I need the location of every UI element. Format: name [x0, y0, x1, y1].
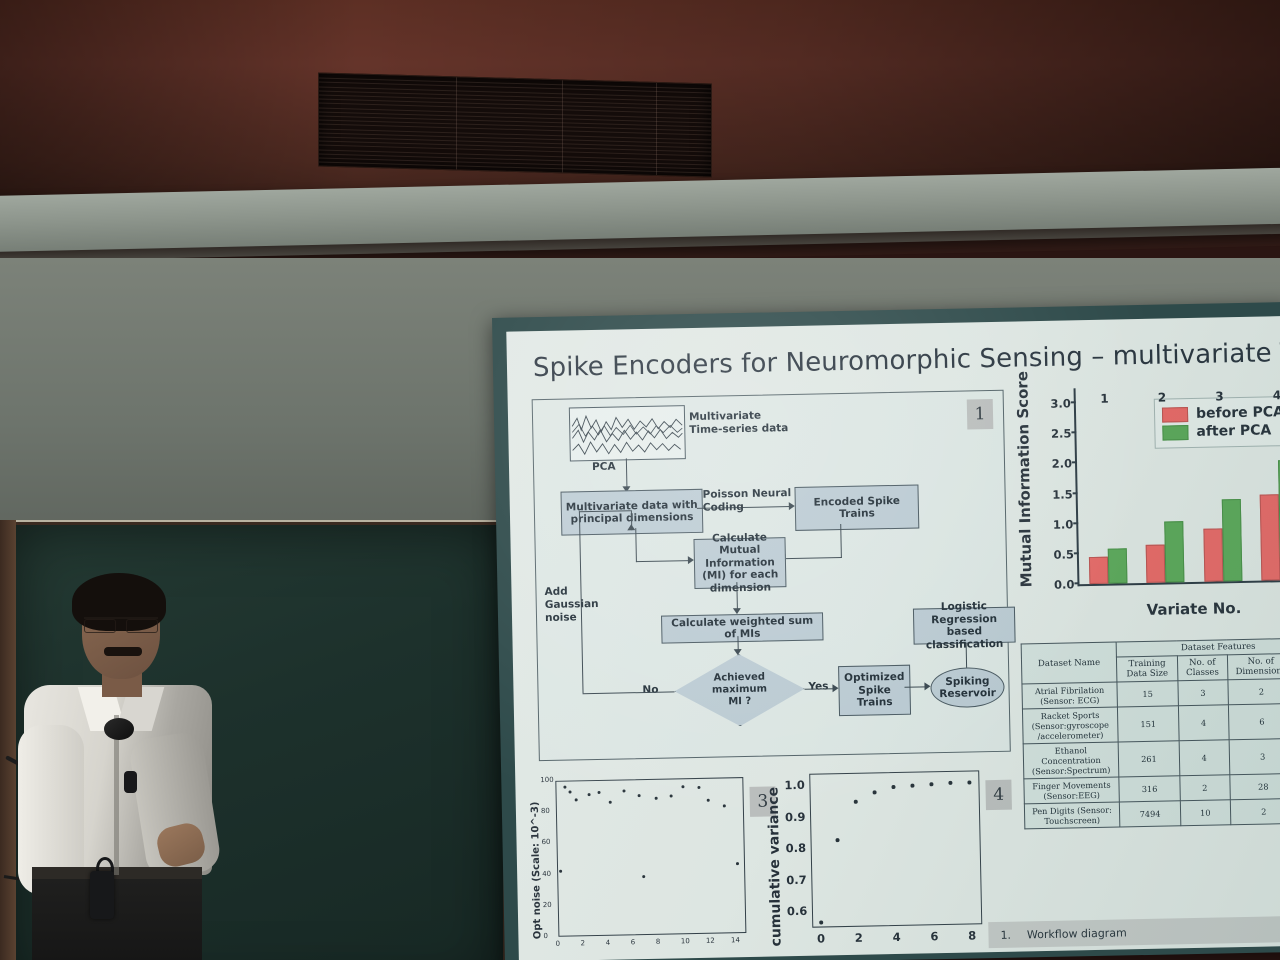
scatter-xtick-10: 10 [681, 937, 690, 945]
node-decision-max-mi: Achieved maximum MI ? [674, 653, 805, 728]
node-spiking-reservoir: Spiking Reservoir [930, 667, 1005, 708]
microphone-transmitter-pack [90, 871, 114, 919]
scatter-point [836, 838, 840, 842]
scatter-point [655, 796, 658, 799]
gaussian-line1: Add [544, 586, 567, 599]
bar-after-pca-3 [1222, 499, 1243, 581]
scatter-point [622, 789, 625, 792]
presentation-slide: Spike Encoders for Neuromorphic Sensing … [506, 316, 1280, 960]
cell-training: 15 [1117, 681, 1178, 707]
dataset-features-table: Dataset Name Dataset Features Training D… [1021, 637, 1280, 829]
scatter-xtick-8: 8 [968, 928, 976, 942]
eyeglasses-icon [84, 617, 158, 631]
bar-ytick-0.0: 0.0 [1054, 577, 1075, 591]
slide-title: Spike Encoders for Neuromorphic Sensing … [533, 338, 1280, 384]
bar-xtick-4: 4 [1273, 388, 1280, 402]
projection-screen: Spike Encoders for Neuromorphic Sensing … [492, 302, 1280, 960]
workflow-diagram-panel: 1 Multivariate Time-series data PCA [532, 390, 1011, 761]
no-label: No [642, 684, 658, 697]
cell-dataset-name: Finger Movements (Sensor:EEG) [1024, 777, 1119, 804]
scatter-point [967, 780, 971, 784]
node-weighted-sum: Calculate weighted sum of MIs [661, 612, 824, 643]
scatter-point [637, 794, 640, 797]
scatter-point [929, 782, 933, 786]
presenter-trousers [32, 871, 202, 960]
decision-line2: maximum [712, 684, 767, 697]
bar-chart-xlabel: Variate No. [1078, 598, 1280, 621]
scatter-ytick-0.7: 0.7 [786, 873, 807, 887]
cell-training: 7494 [1119, 801, 1180, 827]
poisson-label-line1: Poisson Neural [702, 487, 791, 501]
cell-classes: 2 [1180, 775, 1230, 801]
bar-xtick-1: 1 [1100, 392, 1109, 406]
scatter-point [597, 791, 600, 794]
caption-number: 1. [1000, 928, 1011, 941]
bar-group [1085, 387, 1127, 584]
encoded-to-mi-h [786, 557, 842, 559]
scatter-point [736, 862, 739, 865]
scatter-ytick-0: 0 [543, 932, 548, 940]
presenter [10, 575, 240, 960]
bar-ytickmark-0.5 [1074, 552, 1079, 554]
scatter-point [873, 790, 877, 794]
gaussian-line2: Gaussian [545, 598, 599, 612]
scatter-point [563, 786, 566, 789]
pca-arrow-line [626, 458, 628, 488]
table-row: Ethanol Concentration (Sensor:Spectrum)2… [1023, 738, 1280, 779]
node-optimized-spike-trains: Optimized Spike Trains [838, 665, 911, 716]
presenter-moustache [104, 647, 142, 656]
scatter-xtick-4: 4 [606, 939, 611, 947]
bar-before-pca-3 [1203, 529, 1223, 582]
decision-line3: MI ? [728, 696, 751, 708]
scatter-xtick-14: 14 [731, 936, 740, 944]
th-training-data-size: Training Data Size [1116, 656, 1177, 682]
scatter-xtick-4: 4 [892, 930, 900, 944]
scatter-ytick-0.6: 0.6 [787, 904, 808, 918]
ventilation-grille-icon [318, 72, 712, 177]
cell-dataset-name: Racket Sports (Sensor:gyroscope /acceler… [1022, 707, 1118, 744]
bar-after-pca-2 [1164, 521, 1184, 582]
node-encoded-spike-trains: Encoded Spike Trains [794, 484, 919, 530]
cell-dataset-name: Pen Digits (Sensor: Touchscreen) [1024, 802, 1119, 829]
timeseries-label-line2: Time-series data [689, 422, 788, 436]
cumulative-variance-plot-area: 1.00.90.80.70.602468 [809, 770, 982, 927]
bar-before-pca-4 [1260, 494, 1280, 581]
table-row: Pen Digits (Sensor: Touchscreen)7494102 [1024, 798, 1280, 829]
scatter-point [910, 783, 914, 787]
scatter-ytick-40: 40 [542, 870, 551, 878]
scatter-point [643, 875, 646, 878]
no-branch-h [583, 691, 675, 694]
legend-item: after PCA [1162, 422, 1280, 440]
scatter-point [575, 798, 578, 801]
cell-classes: 3 [1178, 680, 1228, 706]
opt-noise-plot-area: 10080604020002468101214 [555, 777, 746, 937]
timeseries-waveform-icon [570, 406, 685, 460]
pca-label: PCA [592, 461, 616, 474]
scatter-xtick-6: 6 [930, 929, 938, 943]
cell-dimensions: 2 [1227, 678, 1280, 704]
scatter-ytick-1.0: 1.0 [784, 778, 805, 792]
scatter-point [723, 804, 726, 807]
scatter-xtick-6: 6 [631, 938, 636, 946]
bar-ytickmark-2.0 [1072, 462, 1077, 464]
cell-dimensions: 6 [1228, 703, 1280, 739]
scatter-point [609, 801, 612, 804]
lecture-hall-scene: Spike Encoders for Neuromorphic Sensing … [0, 0, 1280, 960]
multivariate-timeseries-thumbnail [569, 405, 686, 461]
legend-item: before PCA [1162, 404, 1280, 422]
cell-dataset-name: Ethanol Concentration (Sensor:Spectrum) [1023, 742, 1119, 779]
scatter-point [568, 790, 571, 793]
scatter-point [706, 799, 709, 802]
bar-ytick-0.5: 0.5 [1053, 547, 1074, 561]
scatter-xtick-2: 2 [855, 931, 863, 945]
panel-badge-4: 4 [985, 780, 1012, 811]
scatter-xtick-0: 0 [817, 931, 825, 945]
scatter-point [854, 800, 858, 804]
scatter-xtick-0: 0 [555, 940, 560, 948]
cell-classes: 4 [1178, 705, 1228, 741]
scatter-xtick-12: 12 [706, 937, 715, 945]
slide-caption: 1. Workflow diagram [988, 915, 1280, 948]
opt-noise-scatter-panel: Opt noise (Scale: 10^-3) 100806040200024… [529, 775, 763, 960]
cell-training: 316 [1119, 776, 1180, 802]
principal-to-mi-h [636, 560, 690, 562]
lapel-microphone-icon [124, 771, 137, 793]
scatter-point [819, 920, 823, 924]
bar-ytickmark-2.5 [1071, 432, 1076, 434]
scatter-xtick-2: 2 [581, 939, 586, 947]
panel-badge-1: 1 [967, 399, 994, 430]
scatter-ytick-0.9: 0.9 [785, 810, 806, 824]
bar-ytickmark-3.0 [1071, 401, 1076, 403]
scatter-point [670, 795, 673, 798]
bar-ytickmark-1.5 [1073, 492, 1078, 494]
th-dataset-name: Dataset Name [1021, 642, 1117, 684]
bar-chart-ylabel: Mutual Information Score [1014, 387, 1036, 587]
cumulative-variance-panel: cumulative variance 1.00.90.80.70.602468… [765, 766, 1019, 955]
node-logistic-regression: Logistic Regression based classification [913, 607, 1016, 645]
th-no--of-dimensions: No. of Dimensions [1227, 653, 1280, 679]
scatter-point [948, 781, 952, 785]
legend-label: before PCA [1196, 404, 1280, 422]
bar-before-pca-1 [1089, 556, 1109, 584]
node-calculate-mi: Calculate Mutual Information (MI) for ea… [693, 537, 786, 589]
bar-ytickmark-1.0 [1073, 522, 1078, 524]
legend-swatch [1162, 407, 1188, 423]
cell-training: 261 [1118, 741, 1180, 777]
th-no--of-classes: No. of Classes [1177, 655, 1227, 681]
cumulative-variance-ylabel: cumulative variance [765, 787, 784, 947]
cell-classes: 4 [1179, 740, 1229, 776]
timeseries-label-line1: Multivariate [689, 410, 761, 424]
microphone-head-icon [104, 718, 134, 740]
scatter-ytick-80: 80 [541, 807, 550, 815]
scatter-ytick-20: 20 [543, 901, 552, 909]
bar-ytick-1.0: 1.0 [1053, 517, 1074, 531]
bar-ytick-1.5: 1.5 [1052, 487, 1073, 501]
bar-ytickmark-0.0 [1074, 582, 1079, 584]
scatter-ytick-0.8: 0.8 [786, 841, 807, 855]
scatter-point [587, 793, 590, 796]
optimized-to-reservoir-line [904, 686, 926, 688]
cell-dimensions: 3 [1229, 738, 1280, 774]
table-row: Racket Sports (Sensor:gyroscope /acceler… [1022, 703, 1280, 744]
caption-text: Workflow diagram [1027, 926, 1127, 941]
cell-training: 151 [1117, 706, 1179, 742]
yes-label: Yes [808, 680, 828, 693]
bar-chart-plot-area: before PCAafter PCA 12340.00.51.01.52.02… [1074, 384, 1280, 587]
cell-dataset-name: Atrial Fibrilation (Sensor: ECG) [1022, 682, 1117, 709]
scatter-point [559, 870, 562, 873]
gaussian-line3: noise [545, 611, 577, 624]
cell-dimensions: 2 [1230, 798, 1280, 824]
bar-ytick-3.0: 3.0 [1050, 396, 1071, 410]
scatter-ytick-100: 100 [540, 776, 554, 784]
scatter-xtick-8: 8 [656, 938, 661, 946]
mutual-information-bar-chart: Mutual Information Score before PCAafter… [1015, 376, 1280, 632]
bar-after-pca-1 [1108, 549, 1128, 584]
bar-chart-legend: before PCAafter PCA [1154, 396, 1280, 449]
bar-xtick-3: 3 [1215, 389, 1224, 403]
bar-xtick-2: 2 [1158, 390, 1167, 404]
cell-classes: 10 [1180, 800, 1230, 826]
scatter-ytick-60: 60 [541, 838, 550, 846]
legend-swatch [1162, 425, 1188, 441]
scatter-point [892, 785, 896, 789]
bar-ytick-2.0: 2.0 [1052, 457, 1073, 471]
legend-label: after PCA [1196, 422, 1271, 439]
decision-line1: Achieved [713, 672, 765, 685]
scatter-point [697, 786, 700, 789]
bar-ytick-2.5: 2.5 [1051, 427, 1072, 441]
cell-dimensions: 28 [1229, 773, 1280, 799]
scatter-point [681, 785, 684, 788]
poisson-label-line2: Coding [703, 501, 744, 514]
bar-before-pca-2 [1146, 545, 1166, 583]
